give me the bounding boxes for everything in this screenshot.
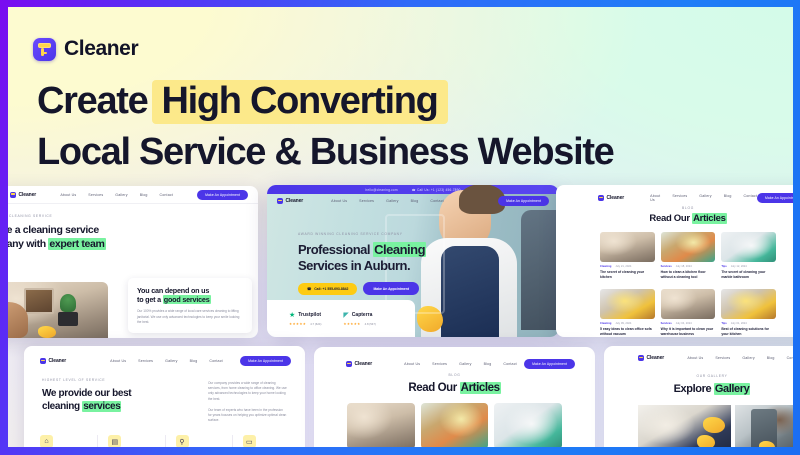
- mini-nav-links[interactable]: About Us Services Gallery Blog Contact: [331, 199, 444, 203]
- title-highlight: Articles: [692, 213, 726, 224]
- eyebrow-text: OUR GALLERY: [604, 374, 793, 378]
- nav-link-about[interactable]: About Us: [404, 362, 420, 366]
- kitchen-cleaning-photo[interactable]: [735, 405, 793, 447]
- nav-link-contact[interactable]: Contact: [160, 193, 173, 197]
- headline-line-1: CreateHigh Converting: [37, 79, 777, 124]
- card-heading: We are a cleaning service company with e…: [8, 223, 258, 251]
- article-date: July 18, 2024: [676, 265, 692, 268]
- article-meta: ServicesJuly 04, 2024: [661, 322, 716, 325]
- office-cleaning-photo[interactable]: [638, 405, 731, 447]
- nav-link-gallery[interactable]: Gallery: [699, 194, 711, 202]
- heading-line-2: cleaning services: [42, 400, 190, 413]
- nav-link-contact[interactable]: Contact: [787, 356, 793, 360]
- nav-link-services[interactable]: Services: [359, 199, 374, 203]
- phone-icon: ☎: [307, 287, 311, 291]
- trustpilot-star-icon: ★: [289, 311, 295, 319]
- capterra-logo-icon: ◤: [343, 311, 348, 319]
- panel-body: Our 100% provides a wide range of local …: [137, 309, 243, 325]
- article-category: Tips: [721, 265, 726, 268]
- article-card[interactable]: CleaningJuly 09, 2024 5 easy ideas to cl…: [600, 289, 655, 336]
- nav-link-gallery[interactable]: Gallery: [115, 193, 127, 197]
- appointment-button[interactable]: Make An Appointment: [498, 196, 549, 206]
- appointment-button[interactable]: Make An Appointment: [524, 359, 575, 369]
- mini-brand-name: Cleaner: [49, 358, 67, 364]
- mini-nav-links[interactable]: About Us Services Gallery Blog Contact: [60, 193, 173, 197]
- mini-brand-name: Cleaner: [286, 198, 304, 204]
- paint-roller-icon: [598, 195, 604, 201]
- article-title[interactable]: The secret of cleaning your kitchen: [600, 270, 655, 279]
- paint-roller-icon: [346, 361, 352, 367]
- article-date: July 04, 2024: [676, 322, 692, 325]
- card-professional-cleaning-hero[interactable]: hello@cleaning.com ☎ Call Us: +1 (123) 4…: [267, 185, 559, 337]
- hero-headline: CreateHigh Converting Local Service & Bu…: [37, 79, 777, 174]
- mini-nav-links[interactable]: About Us Services Gallery Blog Contact: [110, 359, 223, 363]
- mini-brand-logo[interactable]: Cleaner: [277, 198, 303, 204]
- card-heading: We provide our best cleaning services: [42, 387, 190, 413]
- sponge-wipe-photo: [721, 289, 776, 319]
- sponge-counter-photo[interactable]: [494, 403, 562, 447]
- article-date: July 01, 2024: [731, 322, 747, 325]
- article-date: July 12, 2024: [731, 265, 747, 268]
- house-icon: ⌂: [40, 435, 53, 447]
- eyebrow-text: BLOG: [556, 206, 793, 210]
- mini-brand-name: Cleaner: [19, 192, 37, 198]
- eyebrow-text: BLOG: [314, 373, 595, 377]
- paint-roller-icon: [277, 198, 283, 204]
- nav-link-services[interactable]: Services: [672, 194, 687, 202]
- eyebrow-text: BEST CLEANING SERVICE: [8, 214, 258, 218]
- card-cleaning-service-company[interactable]: Cleaner About Us Services Gallery Blog C…: [8, 186, 258, 338]
- paint-roller-icon: [40, 358, 46, 364]
- nav-link-services[interactable]: Services: [88, 193, 103, 197]
- panel-highlight: good services: [163, 295, 211, 304]
- title-highlight: Articles: [460, 382, 501, 394]
- article-title[interactable]: Best of cleaning solutions for your kitc…: [721, 327, 776, 336]
- review-score: 4.8 (547): [365, 322, 376, 326]
- nav-link-gallery[interactable]: Gallery: [165, 359, 177, 363]
- heading-line-1: We provide our best: [42, 387, 190, 400]
- heading-line-1: We are a cleaning service: [8, 223, 258, 237]
- appointment-button[interactable]: Make An Appointment: [197, 190, 248, 200]
- heading-highlight: Cleaning: [373, 242, 426, 257]
- title-highlight: Gallery: [714, 383, 751, 395]
- article-title[interactable]: The secret of cleaning your marble bathr…: [721, 270, 776, 279]
- heading-line-2: company with expert team: [8, 237, 258, 251]
- mini-brand-logo[interactable]: Cleaner: [638, 355, 664, 361]
- wiping-counter-photo: [721, 232, 776, 262]
- reviews-strip: ★ Trustpilot ★★★★★ 4.7 (624) ◤ Capterra …: [267, 300, 415, 337]
- article-date: July 21, 2024: [615, 265, 631, 268]
- review-name: Capterra: [352, 312, 373, 318]
- section-title: Explore Gallery: [604, 383, 793, 395]
- nav-link-gallery[interactable]: Gallery: [459, 362, 471, 366]
- mini-brand-name: Cleaner: [647, 355, 665, 361]
- article-meta: CleaningJuly 09, 2024: [600, 322, 655, 325]
- appointment-button[interactable]: Make An Appointment: [363, 282, 419, 295]
- nav-link-about[interactable]: About Us: [331, 199, 347, 203]
- card-read-articles-page[interactable]: Cleaner About Us Services Gallery Blog C…: [314, 347, 595, 447]
- article-meta: TipsJuly 12, 2024: [721, 265, 776, 268]
- section-title: Read Our Articles: [556, 213, 793, 224]
- nav-link-blog[interactable]: Blog: [484, 362, 492, 366]
- heading-prefix: cleaning: [42, 401, 80, 412]
- nav-link-gallery[interactable]: Gallery: [386, 199, 398, 203]
- card-heading: Professional Cleaning Services in Auburn…: [298, 242, 468, 273]
- gallery-thumbs: [604, 395, 793, 447]
- brand-name: Cleaner: [64, 37, 138, 61]
- article-card[interactable]: TipsJuly 01, 2024 Best of cleaning solut…: [721, 289, 776, 336]
- article-card[interactable]: TipsJuly 12, 2024 The secret of cleaning…: [721, 232, 776, 279]
- call-button[interactable]: ☎ Call: +1 555-693-8842: [298, 283, 357, 295]
- nav-link-services[interactable]: Services: [432, 362, 447, 366]
- review-score: 4.7 (624): [310, 322, 321, 326]
- panel-line-1: You can depend on us: [137, 286, 243, 295]
- mini-nav-links[interactable]: About Us Services Gallery Blog Contact: [650, 194, 757, 202]
- review-name: Trustpilot: [298, 312, 321, 318]
- headline-line-2: Local Service & Business Website: [37, 130, 777, 174]
- title-prefix: Read Our: [649, 213, 689, 224]
- services-grid: ⌂ House Cleaning → ▤ Window Cleaning →: [24, 435, 305, 447]
- articles-grid: CleaningJuly 21, 2024 The secret of clea…: [556, 224, 793, 336]
- nav-link-about[interactable]: About Us: [110, 359, 126, 363]
- article-meta: CleaningJuly 21, 2024: [600, 265, 655, 268]
- review-stars: ★★★★★: [289, 322, 306, 326]
- appointment-button[interactable]: Make An Appointment: [757, 193, 793, 203]
- article-card[interactable]: CleaningJuly 21, 2024 The secret of clea…: [600, 232, 655, 279]
- article-card[interactable]: ServicesJuly 04, 2024 Why it is importan…: [661, 289, 716, 336]
- article-card[interactable]: ServicesJuly 18, 2024 How to clean a kit…: [661, 232, 716, 279]
- mini-brand-logo[interactable]: Cleaner: [346, 361, 372, 367]
- mini-brand-logo[interactable]: Cleaner: [40, 358, 66, 364]
- body-paragraph-1: Our company provides a wide range of cle…: [208, 381, 287, 402]
- panel-prefix: to get a: [137, 295, 161, 304]
- appointment-button[interactable]: Make An Appointment: [240, 356, 291, 366]
- article-category: Tips: [721, 322, 726, 325]
- nav-link-blog[interactable]: Blog: [140, 193, 148, 197]
- mopping-bucket-photo[interactable]: [421, 403, 489, 447]
- nav-link-contact[interactable]: Contact: [744, 194, 757, 202]
- spray-bottle-icon: ⚲: [176, 435, 189, 447]
- card-explore-gallery-page[interactable]: Cleaner About Us Services Gallery Blog C…: [604, 346, 793, 447]
- nav-link-services[interactable]: Services: [715, 356, 730, 360]
- window-icon: ▤: [108, 435, 121, 447]
- nav-link-blog[interactable]: Blog: [190, 359, 198, 363]
- nav-link-about[interactable]: About Us: [60, 193, 76, 197]
- promo-banner-frame: Cleaner CreateHigh Converting Local Serv…: [0, 0, 800, 455]
- yellow-glove-photo: [600, 289, 655, 319]
- heading-prefix: Professional: [298, 242, 370, 257]
- headline-prefix: Create: [37, 80, 148, 122]
- card-read-our-articles[interactable]: Cleaner About Us Services Gallery Blog C…: [556, 185, 793, 337]
- card-best-cleaning-services[interactable]: Cleaner About Us Services Gallery Blog C…: [24, 346, 305, 447]
- article-category: Cleaning: [600, 322, 611, 325]
- eyebrow-text: HIGHEST LEVEL OF SERVICE: [42, 378, 190, 382]
- mini-navbar: Cleaner About Us Services Gallery Blog C…: [267, 194, 559, 208]
- banner-stage: Cleaner CreateHigh Converting Local Serv…: [8, 7, 793, 447]
- article-category: Cleaning: [600, 265, 611, 268]
- review-stars: ★★★★★: [343, 322, 360, 326]
- depend-on-us-panel: You can depend on us to get a good servi…: [128, 278, 252, 333]
- article-meta: ServicesJuly 18, 2024: [661, 265, 716, 268]
- body-paragraph-2: Our team of experts who have been in the…: [208, 408, 287, 424]
- paint-roller-icon: [638, 355, 644, 361]
- title-prefix: Read Our: [408, 382, 457, 394]
- call-button-label: Call: +1 555-693-8842: [314, 287, 348, 291]
- floor-icon: ▭: [243, 435, 256, 447]
- nav-link-about[interactable]: About Us: [650, 194, 660, 202]
- mini-navbar: Cleaner About Us Services Gallery Blog C…: [8, 186, 258, 204]
- service-window-cleaning[interactable]: ▤ Window Cleaning →: [97, 435, 164, 447]
- article-title[interactable]: How to clean a kitchen floor without a c…: [661, 270, 716, 279]
- mini-brand-name: Cleaner: [355, 361, 373, 367]
- service-floor-cleaning[interactable]: ▭ Floor Cleaning →: [232, 435, 299, 447]
- heading-prefix: company with: [8, 238, 46, 250]
- nav-link-blog[interactable]: Blog: [724, 194, 732, 202]
- article-thumbs: [314, 394, 595, 447]
- brand-logo[interactable]: Cleaner: [33, 37, 138, 61]
- article-title[interactable]: 5 easy ideas to clean office sofa withou…: [600, 327, 655, 336]
- title-prefix: Explore: [674, 383, 712, 395]
- panel-line-2: to get a good services: [137, 295, 243, 304]
- nav-link-about[interactable]: About Us: [687, 356, 703, 360]
- nav-link-contact[interactable]: Contact: [209, 359, 222, 363]
- heading-highlight: services: [82, 401, 121, 412]
- paint-roller-icon: [10, 192, 16, 198]
- article-meta: TipsJuly 01, 2024: [721, 322, 776, 325]
- nav-link-services[interactable]: Services: [138, 359, 153, 363]
- service-pest-control[interactable]: ⚲ Pest Control →: [165, 435, 232, 447]
- nav-link-contact[interactable]: Contact: [503, 362, 516, 366]
- living-room-photo[interactable]: [347, 403, 415, 447]
- utility-email[interactable]: hello@cleaning.com: [365, 188, 397, 192]
- nav-link-gallery[interactable]: Gallery: [742, 356, 754, 360]
- article-date: July 09, 2024: [615, 322, 631, 325]
- mopping-floor-photo: [661, 232, 716, 262]
- article-title[interactable]: Why it is important to clean your wareho…: [661, 327, 716, 336]
- mini-brand-logo[interactable]: Cleaner: [598, 195, 624, 201]
- heading-highlight: expert team: [48, 238, 105, 250]
- nav-link-blog[interactable]: Blog: [411, 199, 419, 203]
- eyebrow-text: AWARD WINNING CLEANING SERVICE COMPANY: [298, 232, 468, 236]
- section-title: Read Our Articles: [314, 382, 595, 394]
- service-house-cleaning[interactable]: ⌂ House Cleaning →: [30, 435, 97, 447]
- cleaner-at-work-photo: [8, 282, 108, 338]
- living-room-clean-photo: [661, 289, 716, 319]
- article-category: Services: [661, 322, 672, 325]
- nav-link-blog[interactable]: Blog: [767, 356, 775, 360]
- mini-brand-logo[interactable]: Cleaner: [10, 192, 36, 198]
- living-room-photo: [600, 232, 655, 262]
- mini-brand-name: Cleaner: [607, 195, 625, 201]
- mini-nav-links[interactable]: About Us Services Gallery Blog Contact: [404, 362, 517, 366]
- panel-heading: You can depend on us to get a good servi…: [137, 286, 243, 305]
- heading-line-2: Services in Auburn.: [298, 258, 468, 274]
- paint-roller-icon: [33, 38, 56, 61]
- headline-highlight: High Converting: [152, 80, 448, 124]
- article-category: Services: [661, 265, 672, 268]
- review-capterra[interactable]: ◤ Capterra ★★★★★ 4.8 (547): [343, 311, 375, 326]
- mini-nav-links[interactable]: About Us Services Gallery Blog Contact: [687, 356, 793, 360]
- nav-link-contact[interactable]: Contact: [430, 199, 443, 203]
- review-trustpilot[interactable]: ★ Trustpilot ★★★★★ 4.7 (624): [289, 311, 321, 326]
